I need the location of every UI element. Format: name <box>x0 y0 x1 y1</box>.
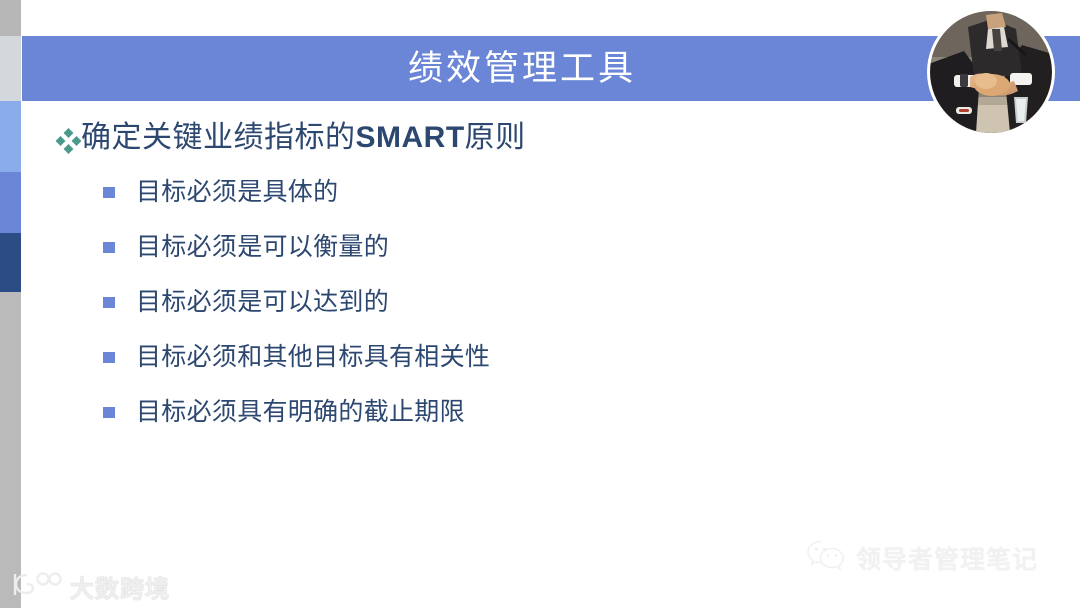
heading-prefix: 确定关键业绩指标的 <box>81 121 356 154</box>
list-item-label: 目标必须和其他目标具有相关性 <box>136 341 490 373</box>
diamond-cluster-icon <box>55 122 81 162</box>
heading-row: 确定关键业绩指标的SMART原则 <box>55 118 915 162</box>
wechat-watermark: 领导者管理笔记 <box>806 538 1038 577</box>
brand-watermark: 大数跨境 <box>10 568 170 605</box>
wechat-watermark-label: 领导者管理笔记 <box>856 540 1038 576</box>
sidebar-band-mid-blue <box>0 172 21 233</box>
heading-emphasis: SMART <box>356 121 465 154</box>
list-item-label: 目标必须具有明确的截止期限 <box>136 396 465 428</box>
slide-body: 确定关键业绩指标的SMART原则 目标必须是具体的 目标必须是可以衡量的 目标必… <box>55 118 915 451</box>
square-bullet-icon <box>103 242 115 253</box>
sidebar-band-gray-top <box>0 0 21 36</box>
wechat-icon <box>806 538 846 577</box>
list-item: 目标必须是可以达到的 <box>103 286 915 341</box>
list-item: 目标必须是可以衡量的 <box>103 231 915 286</box>
list-item-label: 目标必须是可以达到的 <box>136 286 389 318</box>
sidebar-accent-strip <box>0 0 21 608</box>
list-item: 目标必须和其他目标具有相关性 <box>103 341 915 396</box>
square-bullet-icon <box>103 352 115 363</box>
square-bullet-icon <box>103 407 115 418</box>
sidebar-band-light-blue <box>0 101 21 172</box>
square-bullet-icon <box>103 297 115 308</box>
sidebar-band-light-gray <box>0 36 21 101</box>
list-item: 目标必须是具体的 <box>103 176 915 231</box>
heading-text: 确定关键业绩指标的SMART原则 <box>81 118 526 158</box>
presentation-slide: 绩效管理工具 <box>0 0 1080 608</box>
sidebar-band-dark-blue <box>0 233 21 292</box>
list-item: 目标必须具有明确的截止期限 <box>103 396 915 451</box>
heading-suffix: 原则 <box>465 121 526 154</box>
bullet-list: 目标必须是具体的 目标必须是可以衡量的 目标必须是可以达到的 目标必须和其他目标… <box>103 176 915 451</box>
sidebar-band-gray-bottom <box>0 292 21 608</box>
list-item-label: 目标必须是具体的 <box>136 176 338 208</box>
slide-title-bar: 绩效管理工具 <box>22 36 1080 101</box>
brand-watermark-label: 大数跨境 <box>70 569 170 604</box>
square-bullet-icon <box>103 187 115 198</box>
handshake-photo <box>927 8 1055 136</box>
slide-title: 绩效管理工具 <box>22 36 1022 101</box>
handshake-photo-image <box>930 11 1052 133</box>
list-item-label: 目标必须是可以衡量的 <box>136 231 389 263</box>
dashukuajing-logo-icon <box>10 568 62 605</box>
